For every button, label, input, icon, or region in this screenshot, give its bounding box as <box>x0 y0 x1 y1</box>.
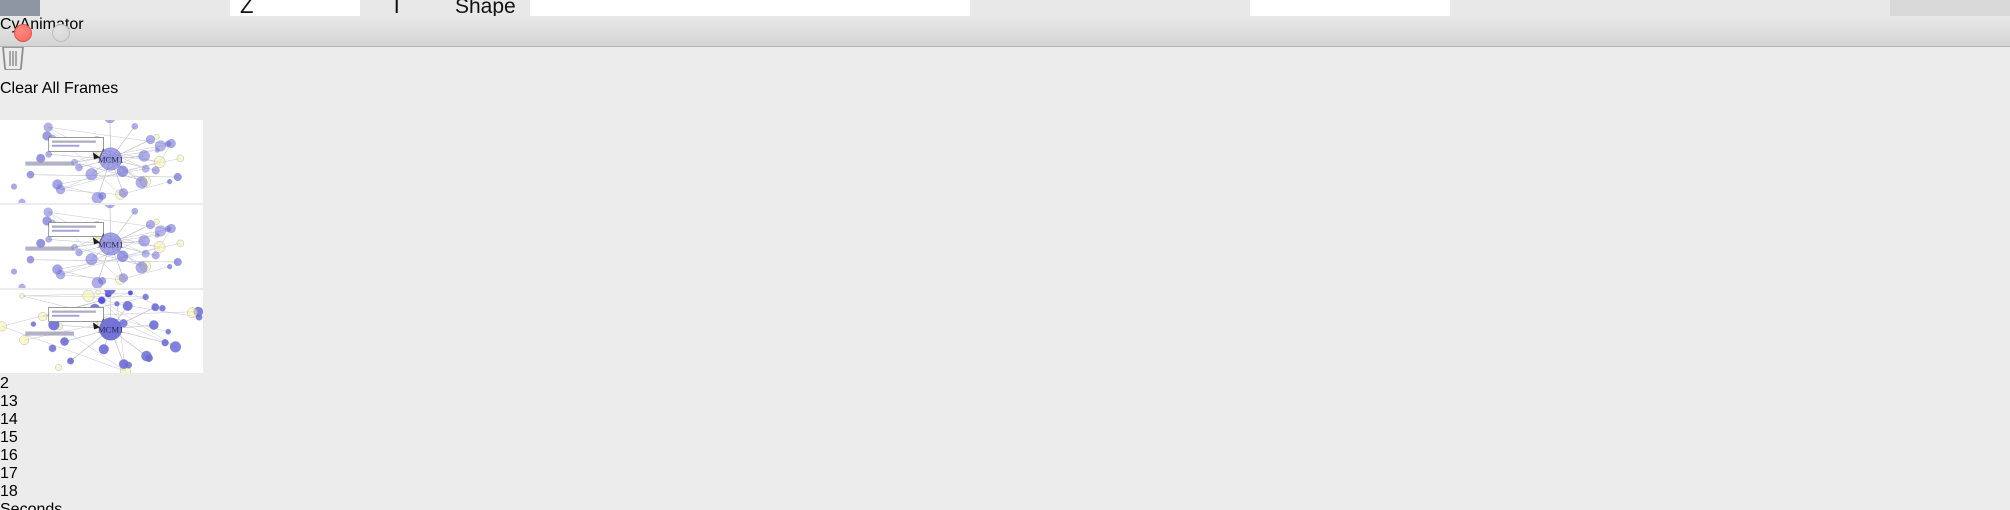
titlebar: CyAnimator <box>0 16 2010 47</box>
axis-tick-label: 14 <box>0 411 2010 429</box>
frame-thumbnail-1[interactable]: MCM1 <box>0 120 205 205</box>
svg-text:MCM1: MCM1 <box>98 240 124 250</box>
bg-strip-1 <box>0 0 41 16</box>
svg-text:MCM1: MCM1 <box>98 155 124 165</box>
close-button[interactable] <box>14 24 32 42</box>
axis-tick-label: 15 <box>0 429 2010 447</box>
bg-strip-3 <box>170 0 231 16</box>
axis-tick-label: 18 <box>0 483 2010 501</box>
maximize-button[interactable] <box>0 24 16 40</box>
cyanimator-window: Z T Shape CyAnimator ✚ Clear All Frames <box>0 0 2010 510</box>
frame-thumbnail-2[interactable]: MCM1 <box>0 205 205 290</box>
bg-strip-7 <box>530 0 971 16</box>
clear-all-frames-button[interactable]: Clear All Frames <box>0 80 270 120</box>
timeline-panel[interactable]: MCM1 MCM1 MCM1 2131415161718 Seconds <box>0 120 2010 510</box>
network-graph: MCM1 <box>0 120 203 203</box>
minimize-button[interactable] <box>52 24 70 42</box>
axis-tick-label: 16 <box>0 447 2010 465</box>
network-graph: MCM1 <box>0 290 203 373</box>
bg-window-label: Shape <box>455 0 516 17</box>
frame-thumbnail-3[interactable]: MCM1 <box>0 290 205 375</box>
bg-strip-2 <box>40 0 171 16</box>
axis-title: Seconds <box>0 501 2010 510</box>
bg-glyph-t: T <box>390 0 403 17</box>
background-window-sliver: Z T Shape <box>0 0 2010 17</box>
bg-glyph-z: Z <box>240 0 253 17</box>
axis-tick-label: 17 <box>0 465 2010 483</box>
bg-strip-9 <box>1250 0 1451 16</box>
bg-strip-8 <box>970 0 1251 16</box>
bg-strip-10 <box>1450 0 1891 16</box>
network-graph: MCM1 <box>0 205 203 288</box>
clear-all-frames-label: Clear All Frames <box>0 80 118 97</box>
bg-strip-5 <box>360 0 391 16</box>
svg-text:MCM1: MCM1 <box>98 325 124 335</box>
axis-tick-label: 2 <box>0 375 2010 393</box>
timeline-ticks: 2131415161718 <box>0 375 2010 501</box>
axis-tick-label: 13 <box>0 393 2010 411</box>
window-title: CyAnimator <box>0 16 2010 34</box>
bg-strip-11 <box>1890 0 2010 16</box>
